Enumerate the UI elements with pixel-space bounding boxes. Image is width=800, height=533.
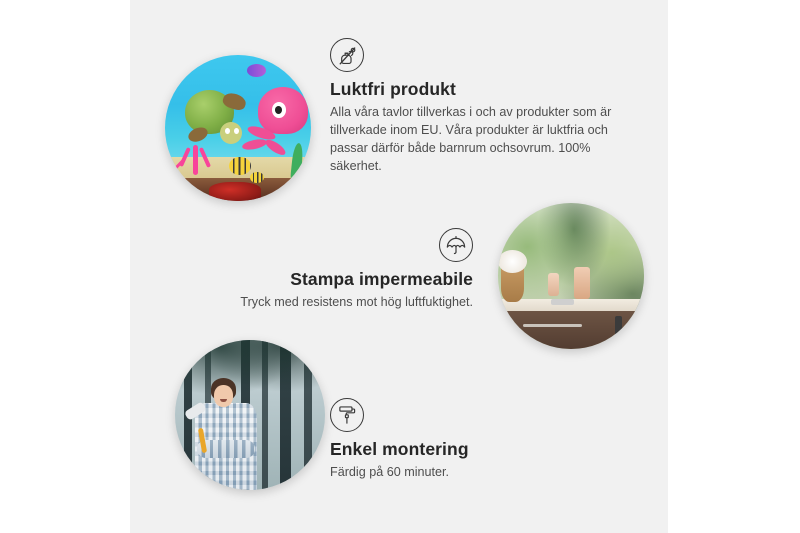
no-fragrance-icon	[330, 38, 364, 72]
yellow-fish-icon	[229, 157, 251, 175]
bathroom-wallpaper-photo	[498, 203, 644, 349]
feature-odour-free: Luktfri produkt Alla våra tavlor tillver…	[330, 38, 620, 176]
purple-fish-icon	[247, 64, 266, 77]
feature-body: Alla våra tavlor tillverkas i och av pro…	[330, 104, 620, 176]
feature-title: Enkel montering	[330, 439, 580, 460]
feature-waterproof-print: Stampa impermeabile Tryck med resistens …	[215, 228, 473, 312]
person-figure	[187, 376, 268, 490]
promo-banner: Luktfri produkt Alla våra tavlor tillver…	[0, 0, 800, 533]
coral-icon	[177, 137, 215, 175]
umbrella-icon	[439, 228, 473, 262]
feature-body: Färdig på 60 minuter.	[330, 464, 580, 482]
installer-forest-photo	[175, 340, 325, 490]
underwater-cartoon-photo	[165, 55, 311, 201]
feature-title: Luktfri produkt	[330, 79, 620, 100]
paint-roller-icon	[330, 398, 364, 432]
feature-easy-mounting: Enkel montering Färdig på 60 minuter.	[330, 398, 580, 482]
feature-body: Tryck med resistens mot hög luftfuktighe…	[215, 294, 473, 312]
feature-title: Stampa impermeabile	[215, 269, 473, 290]
